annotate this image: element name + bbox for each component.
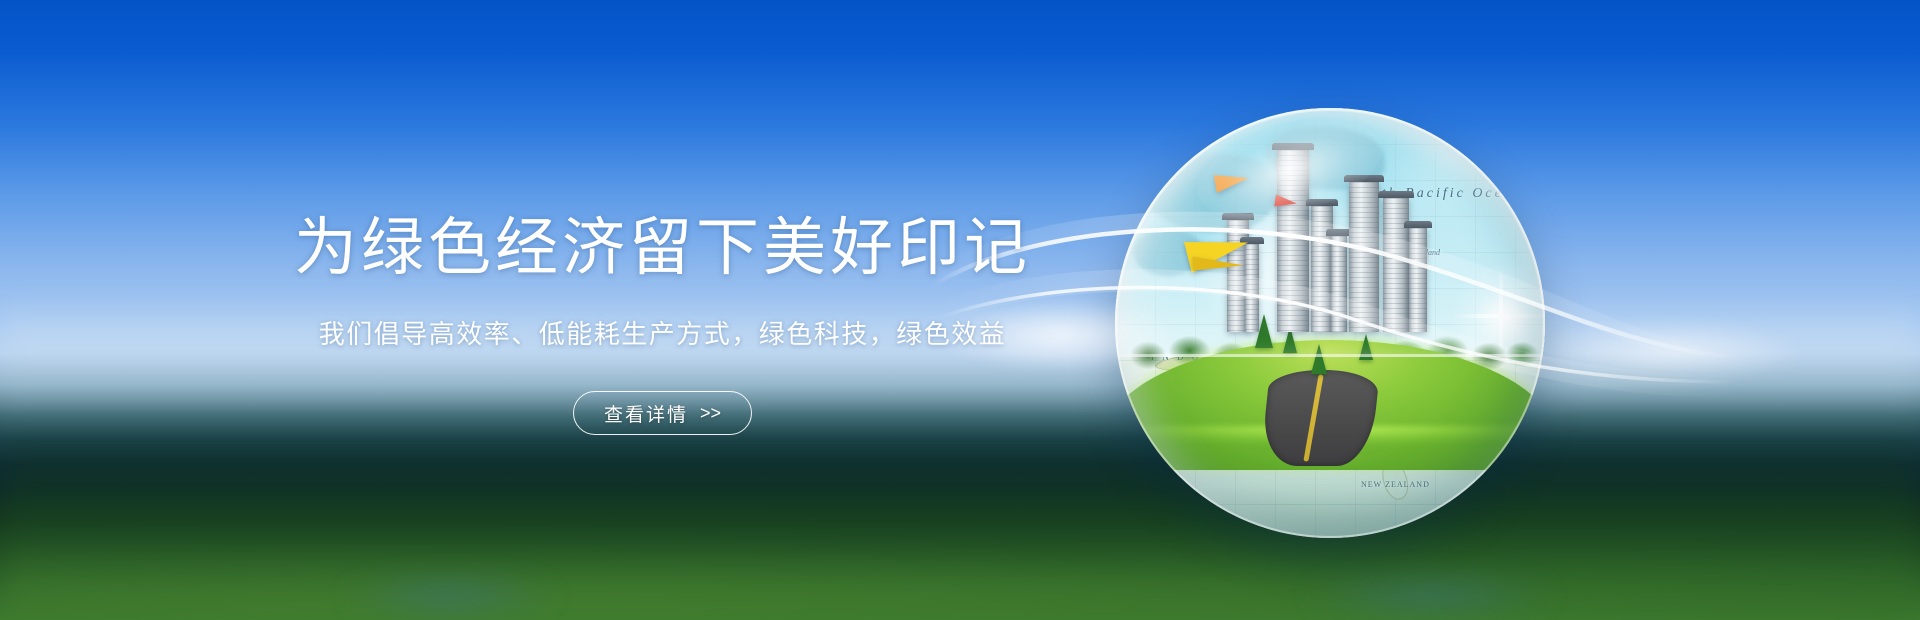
view-details-button[interactable]: 查看详情 >> — [573, 391, 752, 435]
tree-icon-4 — [1359, 334, 1373, 360]
page-title: 为绿色经济留下美好印记 — [0, 212, 1325, 284]
hero-banner: I N D O N E S I A PAPUA NEW GUINEA SOLOM… — [0, 0, 1920, 620]
hero-copy-block: 为绿色经济留下美好印记 我们倡导高效率、低能耗生产方式，绿色科技，绿色效益 查看… — [0, 212, 1325, 435]
building-8 — [1409, 228, 1427, 332]
view-details-label: 查看详情 — [604, 400, 688, 427]
page-subtitle: 我们倡导高效率、低能耗生产方式，绿色科技，绿色效益 — [0, 314, 1325, 351]
chevron-right-icon: >> — [700, 403, 721, 424]
building-7 — [1383, 198, 1409, 332]
field-light-streak-left — [340, 576, 560, 616]
field-light-streak-right — [1300, 576, 1560, 616]
building-6 — [1349, 182, 1379, 332]
building-5 — [1331, 236, 1347, 332]
cta-container: 查看详情 >> — [0, 391, 1325, 435]
blurred-green-field — [0, 430, 1920, 620]
